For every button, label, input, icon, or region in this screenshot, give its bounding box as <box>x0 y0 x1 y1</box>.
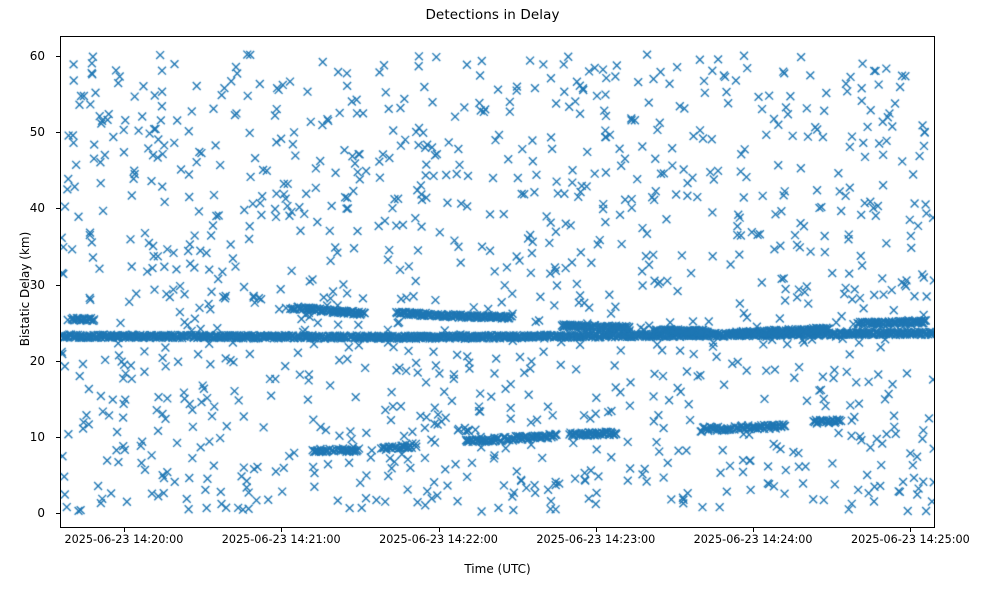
y-tick-mark <box>56 513 60 514</box>
x-tick-label: 2025-06-23 14:22:00 <box>379 533 498 546</box>
x-tick-mark <box>124 528 125 532</box>
y-tick-mark <box>56 361 60 362</box>
figure: Detections in Delay Bistatic Delay (km) … <box>0 0 985 590</box>
x-tick-mark <box>439 528 440 532</box>
x-tick-mark <box>753 528 754 532</box>
x-tick-label: 2025-06-23 14:21:00 <box>222 533 341 546</box>
x-tick-mark <box>596 528 597 532</box>
chart-title: Detections in Delay <box>0 7 985 23</box>
y-tick-label: 0 <box>5 506 45 520</box>
y-tick-label: 30 <box>5 278 45 292</box>
y-tick-label: 20 <box>5 354 45 368</box>
y-tick-label: 60 <box>5 49 45 63</box>
x-axis-label: Time (UTC) <box>60 562 935 576</box>
x-tick-label: 2025-06-23 14:20:00 <box>64 533 183 546</box>
scatter-canvas <box>61 37 934 527</box>
x-tick-mark <box>281 528 282 532</box>
y-tick-mark <box>56 437 60 438</box>
y-tick-mark <box>56 56 60 57</box>
y-tick-mark <box>56 132 60 133</box>
y-tick-mark <box>56 208 60 209</box>
y-tick-mark <box>56 285 60 286</box>
x-tick-label: 2025-06-23 14:25:00 <box>851 533 970 546</box>
x-tick-label: 2025-06-23 14:23:00 <box>536 533 655 546</box>
plot-area <box>60 36 935 528</box>
y-tick-label: 40 <box>5 201 45 215</box>
x-tick-mark <box>910 528 911 532</box>
y-tick-label: 50 <box>5 125 45 139</box>
x-tick-label: 2025-06-23 14:24:00 <box>694 533 813 546</box>
y-tick-label: 10 <box>5 430 45 444</box>
